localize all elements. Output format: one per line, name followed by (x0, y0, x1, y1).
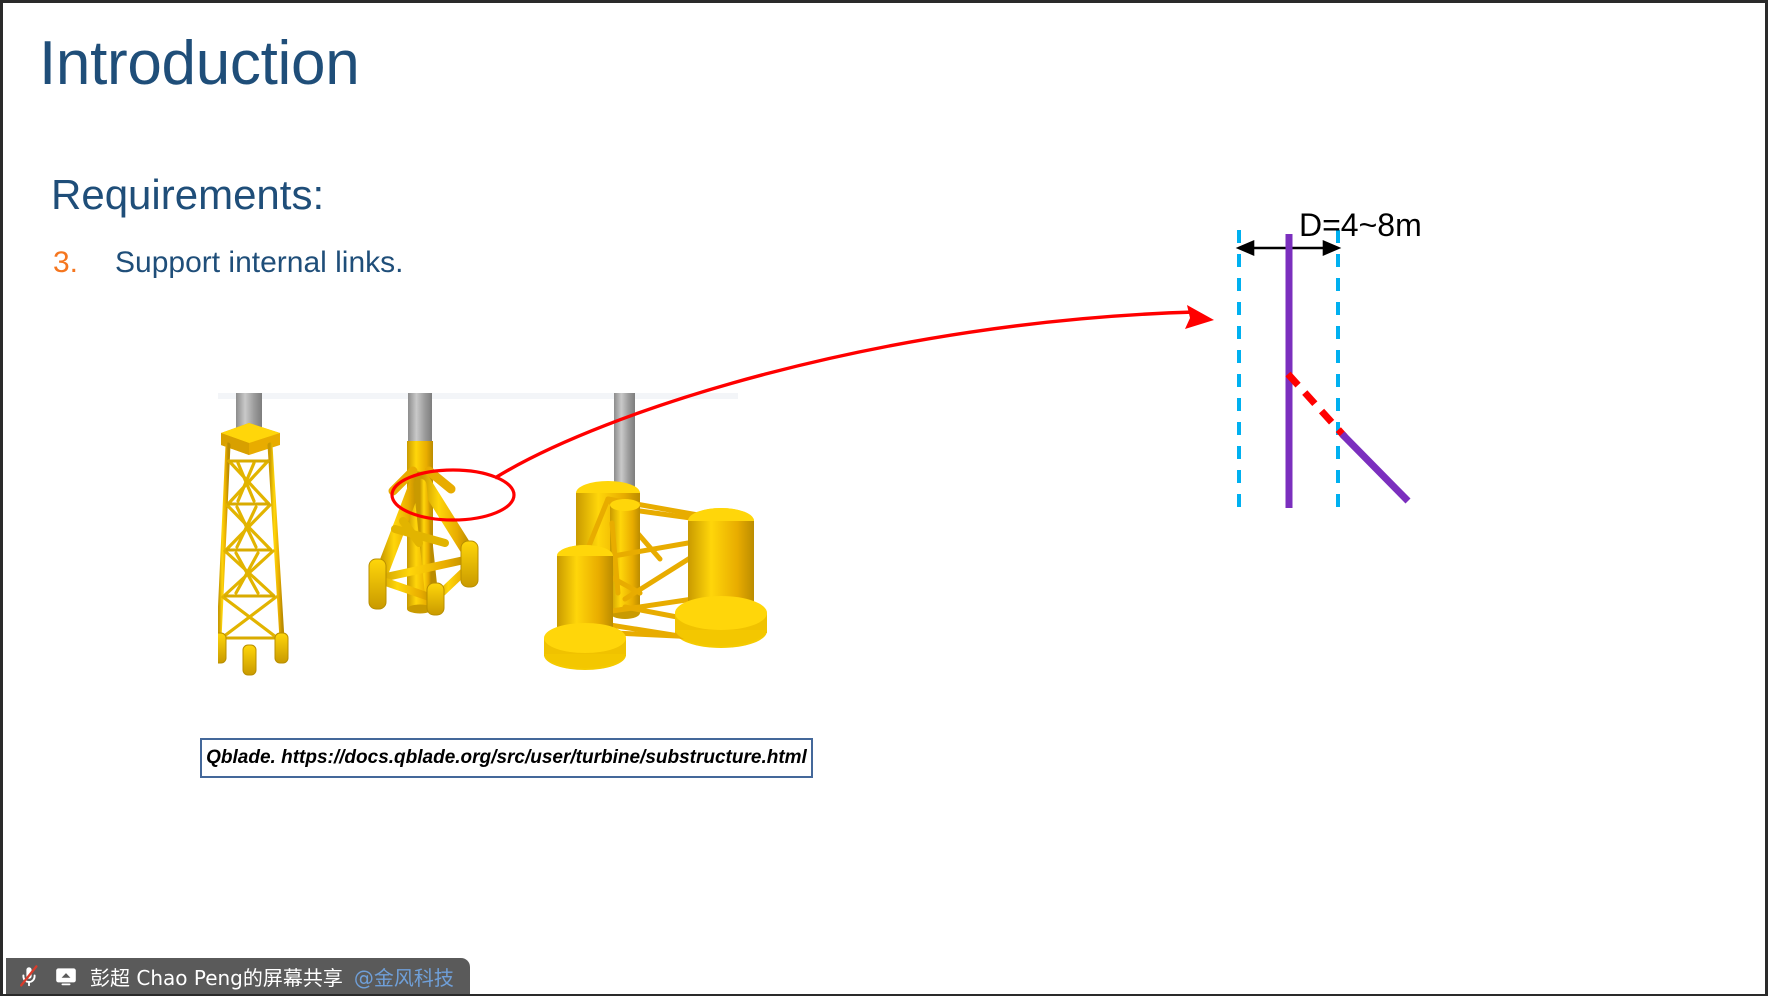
list-item-label: Support internal links. (115, 246, 404, 280)
page-title: Introduction (39, 31, 359, 96)
screen-share-icon[interactable] (53, 963, 79, 989)
citation-text: Qblade. https://docs.qblade.org/src/user… (206, 747, 807, 769)
substructure-illustration (218, 393, 818, 683)
purple-diagonal-link (1342, 434, 1408, 501)
share-organization-text: @金风科技 (354, 962, 454, 991)
monopile-dimension-diagram (1218, 198, 1548, 528)
list-item-number: 3. (53, 246, 115, 280)
citation-box: Qblade. https://docs.qblade.org/src/user… (200, 738, 813, 778)
microphone-muted-icon[interactable] (16, 963, 42, 989)
presentation-slide: Introduction Requirements: 3. Support in… (3, 3, 1765, 994)
jacket-substructure (218, 393, 288, 675)
share-status-text: 彭超 Chao Peng的屏幕共享 (90, 962, 343, 991)
red-arrowhead (1185, 305, 1214, 329)
list-item: 3. Support internal links. (53, 246, 404, 280)
dimension-label: D=4~8m (1299, 207, 1422, 244)
semi-submersible-substructure (544, 393, 767, 670)
screen-share-bar[interactable]: 彭超 Chao Peng的屏幕共享 @金风科技 (6, 958, 470, 994)
section-subheading: Requirements: (51, 171, 324, 219)
screen: Introduction Requirements: 3. Support in… (0, 0, 1768, 996)
tripod-substructure (369, 393, 478, 615)
